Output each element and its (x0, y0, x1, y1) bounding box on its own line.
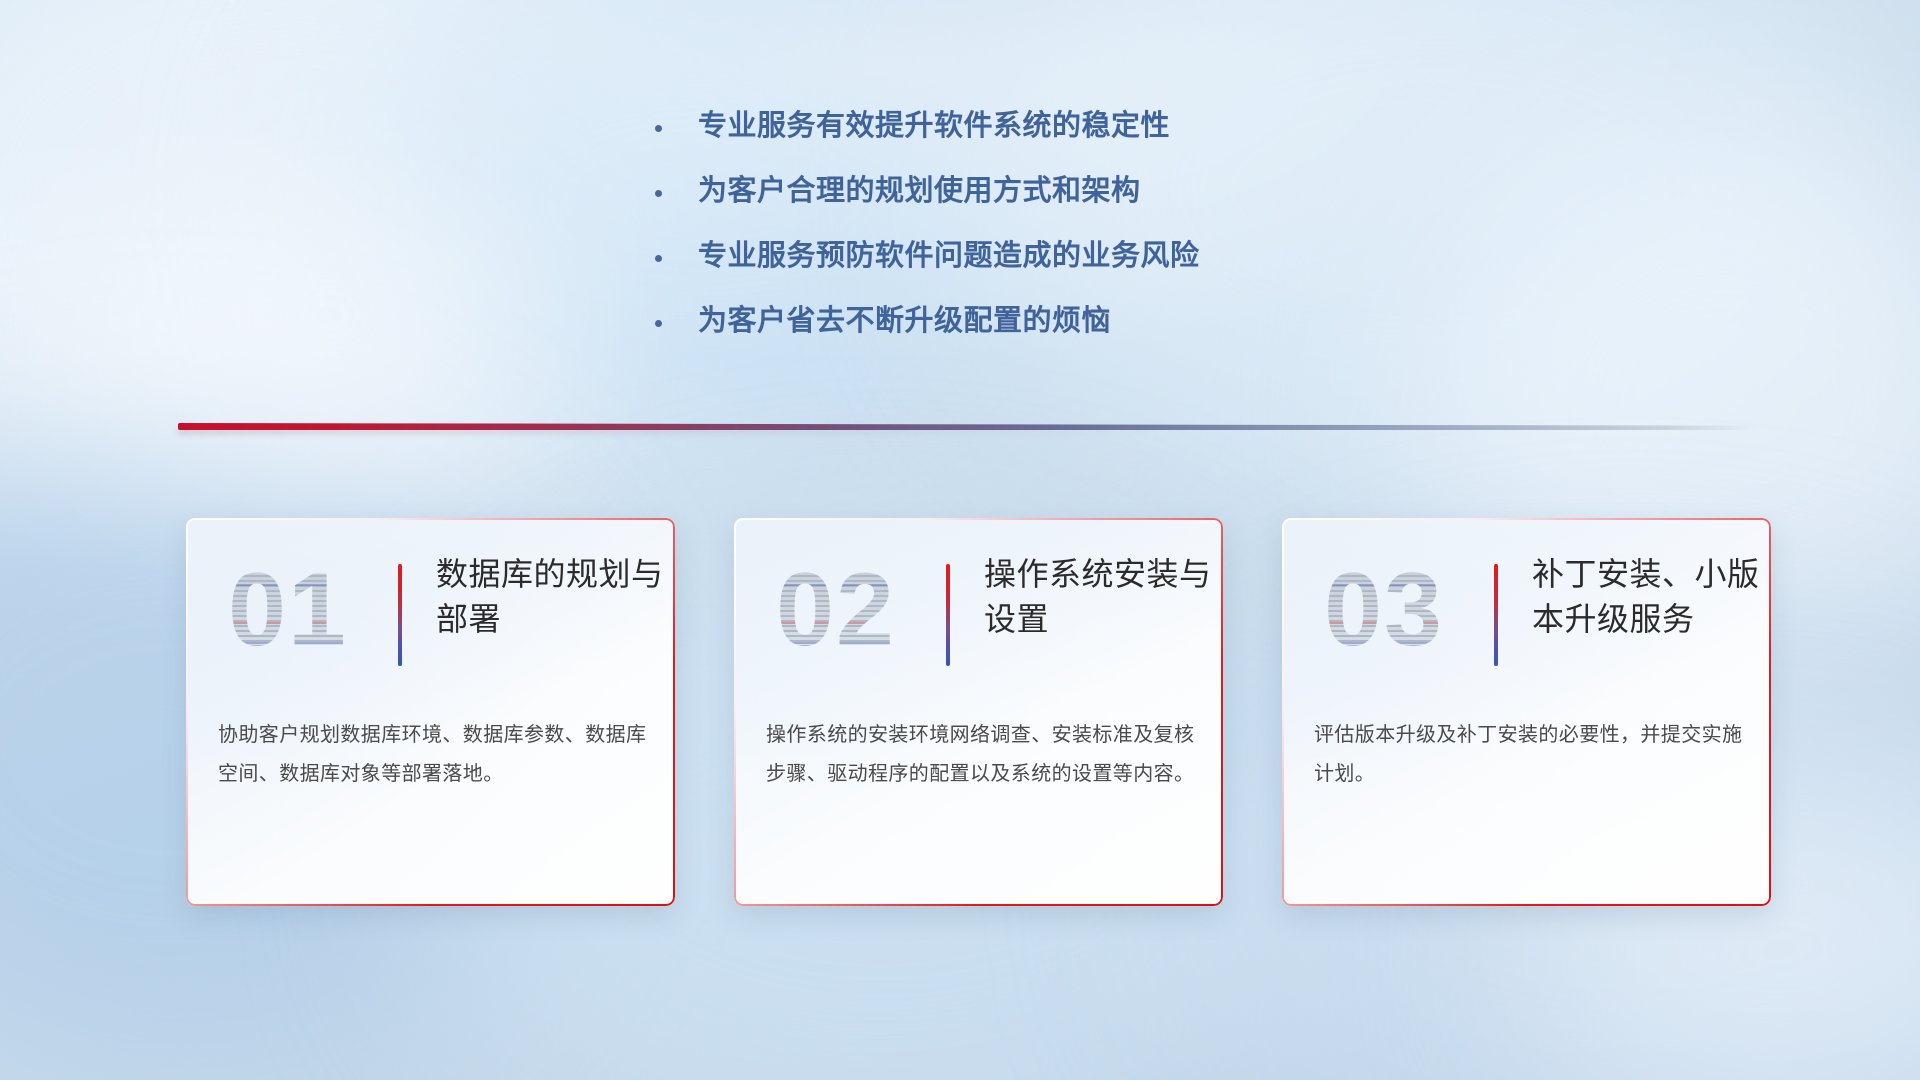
card-title: 补丁安装、小版本升级服务 (1532, 552, 1762, 643)
service-cards: 01 01 数据库的规划与部署 协助客户规划数据库环境、数据库参数、数据库空间、… (186, 518, 1746, 908)
card-description: 评估版本升级及补丁安装的必要性，并提交实施计划。 (1314, 716, 1744, 794)
bullet-dot-icon (655, 320, 662, 327)
card-title: 数据库的规划与部署 (436, 552, 666, 643)
bullet-dot-icon (655, 125, 662, 132)
card-accent-bar (1494, 564, 1498, 666)
slide-canvas: 专业服务有效提升软件系统的稳定性 为客户合理的规划使用方式和架构 专业服务预防软… (0, 0, 1920, 1080)
card-header: 03 03 补丁安装、小版本升级服务 (1282, 556, 1771, 676)
card-title: 操作系统安装与设置 (984, 552, 1214, 643)
service-card[interactable]: 02 02 操作系统安装与设置 操作系统的安装环境网络调查、安装标准及复核步骤、… (734, 518, 1223, 906)
list-item: 为客户合理的规划使用方式和架构 (655, 173, 1475, 210)
divider-line (178, 423, 1758, 430)
card-number-watermark: 03 (1308, 550, 1460, 674)
list-item: 专业服务有效提升软件系统的稳定性 (655, 108, 1475, 145)
list-item: 为客户省去不断升级配置的烦恼 (655, 303, 1475, 340)
section-divider (178, 419, 1758, 435)
list-item-label: 为客户合理的规划使用方式和架构 (698, 173, 1141, 210)
card-number-watermark: 01 (212, 550, 364, 674)
card-description: 操作系统的安装环境网络调查、安装标准及复核步骤、驱动程序的配置以及系统的设置等内… (766, 716, 1196, 794)
card-accent-bar (946, 564, 950, 666)
list-item-label: 专业服务有效提升软件系统的稳定性 (698, 108, 1170, 145)
bullet-dot-icon (655, 190, 662, 197)
card-description: 协助客户规划数据库环境、数据库参数、数据库空间、数据库对象等部署落地。 (218, 716, 648, 794)
list-item: 专业服务预防软件问题造成的业务风险 (655, 238, 1475, 275)
card-accent-bar (398, 564, 402, 666)
list-item-label: 为客户省去不断升级配置的烦恼 (698, 303, 1111, 340)
bullet-dot-icon (655, 255, 662, 262)
benefits-list: 专业服务有效提升软件系统的稳定性 为客户合理的规划使用方式和架构 专业服务预防软… (655, 108, 1475, 368)
card-number-watermark: 02 (760, 550, 912, 674)
service-card[interactable]: 03 03 补丁安装、小版本升级服务 评估版本升级及补丁安装的必要性，并提交实施… (1282, 518, 1771, 906)
service-card[interactable]: 01 01 数据库的规划与部署 协助客户规划数据库环境、数据库参数、数据库空间、… (186, 518, 675, 906)
list-item-label: 专业服务预防软件问题造成的业务风险 (698, 238, 1200, 275)
card-header: 01 01 数据库的规划与部署 (186, 556, 675, 676)
card-header: 02 02 操作系统安装与设置 (734, 556, 1223, 676)
